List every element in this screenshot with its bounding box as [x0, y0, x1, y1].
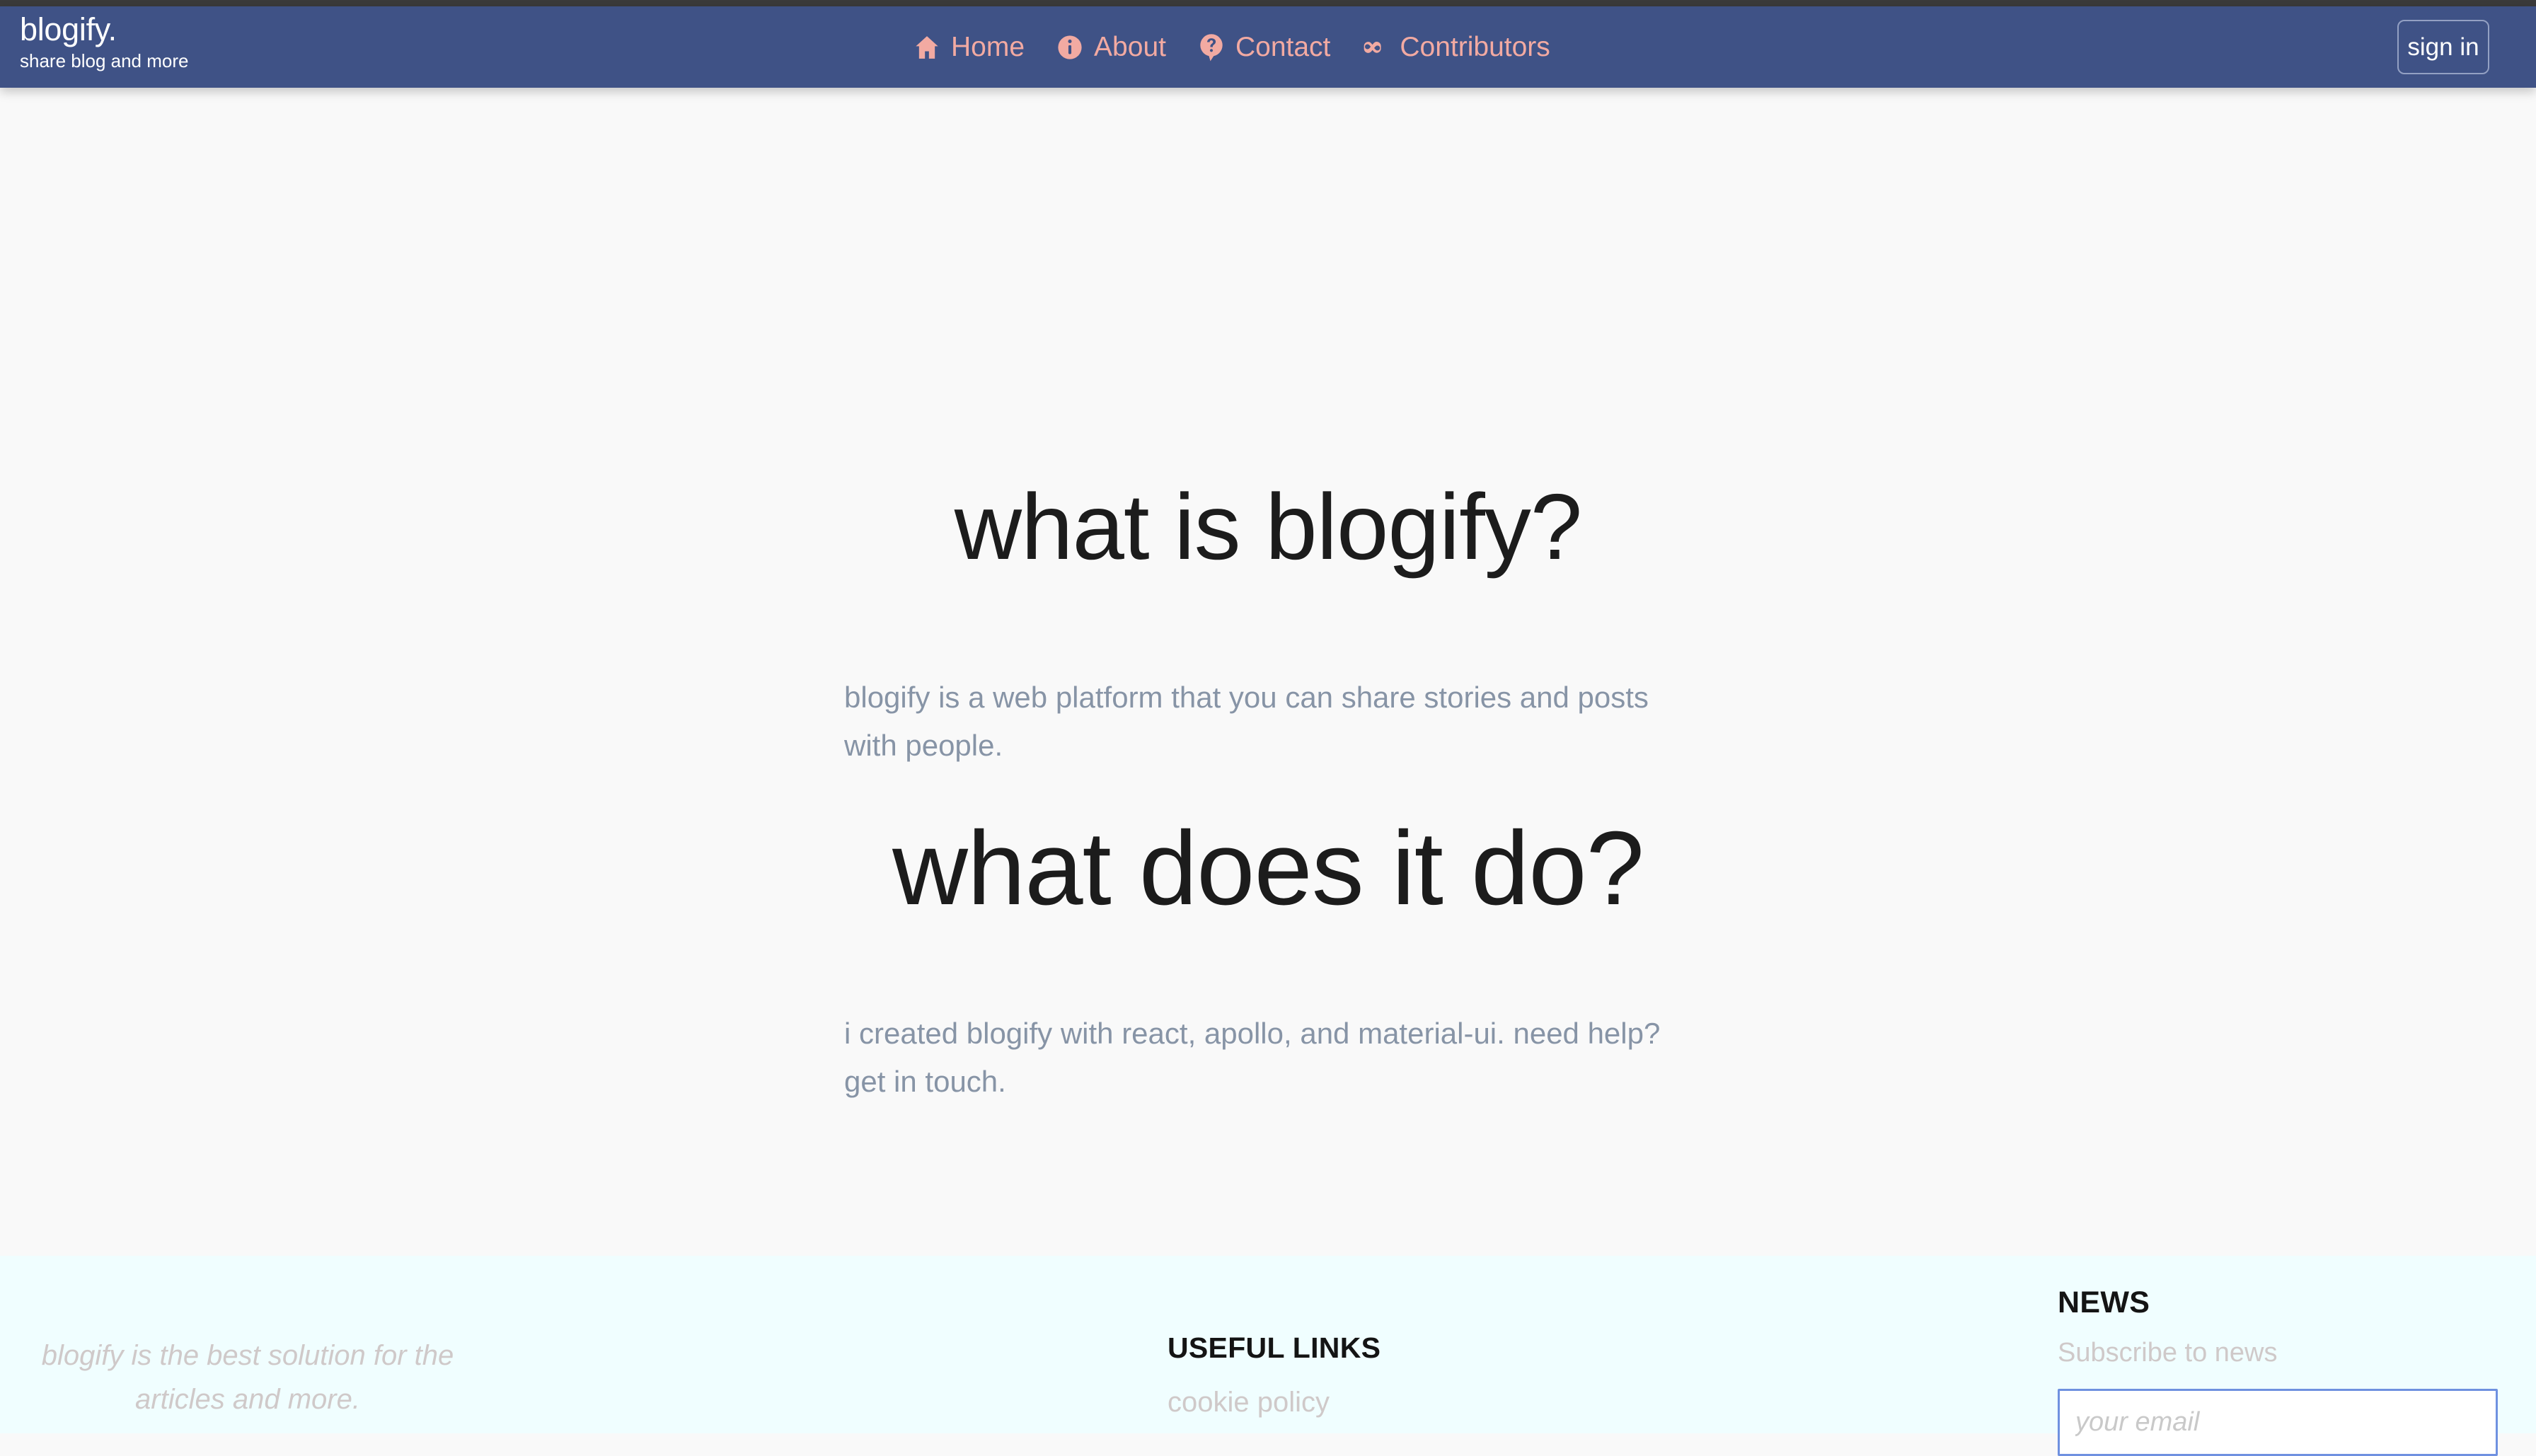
nav-item-about[interactable]: About	[1056, 33, 1166, 62]
footer-news-column: NEWS Subscribe to news	[2058, 1288, 2511, 1456]
nav-item-contact[interactable]: Contact	[1197, 33, 1330, 62]
hero-heading-what-is-blogify: what is blogify?	[0, 480, 2536, 574]
footer-news-heading: NEWS	[2058, 1288, 2511, 1318]
newsletter-email-input[interactable]	[2058, 1389, 2498, 1456]
infinity-icon	[1361, 33, 1390, 62]
hero-paragraph-what-does-it-do: i created blogify with react, apollo, an…	[844, 1010, 1693, 1106]
nav-label-contact: Contact	[1235, 33, 1330, 61]
info-icon	[1056, 33, 1084, 62]
nav-label-contributors: Contributors	[1400, 33, 1550, 61]
footer-tagline: blogify is the best solution for the art…	[0, 1334, 495, 1421]
nav-label-home: Home	[951, 33, 1025, 61]
footer-useful-links-column: USEFUL LINKS cookie policy	[1168, 1334, 1734, 1416]
main-content: what is blogify? blogify is a web platfo…	[0, 88, 2536, 1256]
brand-block[interactable]: blogify. share blog and more	[20, 13, 188, 70]
top-browser-strip	[0, 0, 2536, 6]
hero-paragraph-what-is-blogify: blogify is a web platform that you can s…	[844, 674, 1693, 770]
footer-news-subtitle: Subscribe to news	[2058, 1339, 2511, 1366]
hero-heading-what-does-it-do: what does it do?	[0, 816, 2536, 921]
nav-item-home[interactable]: Home	[913, 33, 1025, 62]
sign-in-button[interactable]: sign in	[2397, 20, 2489, 74]
contact-support-icon	[1197, 33, 1226, 62]
main-navigation: Home About Contact	[913, 6, 1550, 88]
brand-subtitle: share blog and more	[20, 52, 188, 70]
brand-title: blogify.	[20, 13, 188, 45]
nav-item-contributors[interactable]: Contributors	[1361, 33, 1550, 62]
nav-label-about: About	[1094, 33, 1166, 61]
app-header: blogify. share blog and more Home About	[0, 6, 2536, 88]
site-footer: blogify is the best solution for the art…	[0, 1256, 2536, 1433]
home-icon	[913, 33, 941, 62]
footer-link-cookie-policy[interactable]: cookie policy	[1168, 1388, 1734, 1416]
footer-useful-links-heading: USEFUL LINKS	[1168, 1334, 1734, 1363]
